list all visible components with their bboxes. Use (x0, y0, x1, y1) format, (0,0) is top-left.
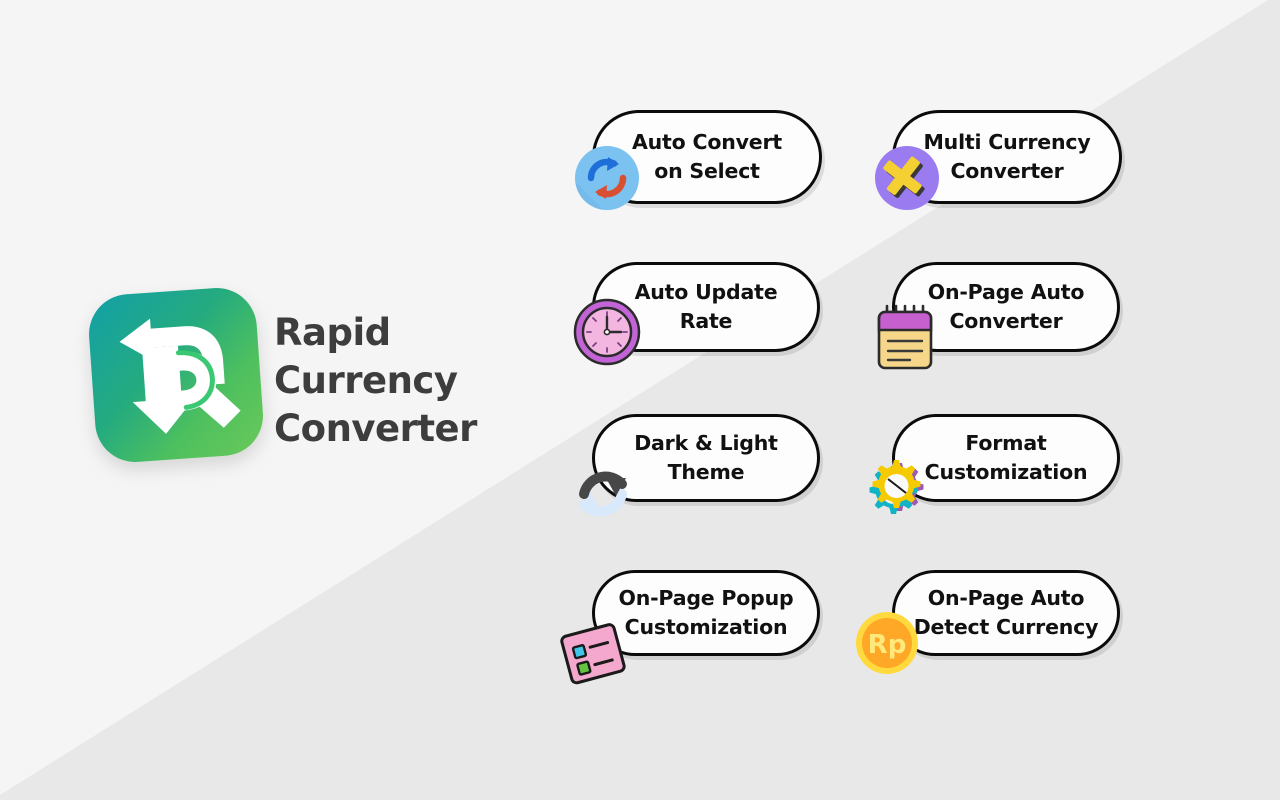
feature-label: On-Page Auto Detect Currency (896, 584, 1117, 642)
brand-title-line-1: Rapid (274, 309, 524, 357)
brand-title-line-2: Currency (274, 357, 524, 405)
rupiah-coin-icon: Rp (854, 610, 920, 676)
page-title: Rapid Currency Converter (274, 309, 524, 453)
feature-on-page-auto-detect-currency[interactable]: On-Page Auto Detect Currency Rp (892, 570, 1120, 656)
feature-on-page-popup-customization[interactable]: On-Page Popup Customization (592, 570, 820, 656)
feature-on-page-auto-converter[interactable]: On-Page Auto Converter (892, 262, 1120, 352)
gear-icon (860, 452, 934, 526)
theme-swap-arrows-icon (570, 454, 642, 526)
poster-canvas: Rapid Currency Converter Auto Convert on… (0, 0, 1280, 800)
refresh-arrows-circle-icon (574, 145, 640, 211)
feature-auto-convert-on-select[interactable]: Auto Convert on Select (592, 110, 822, 204)
feature-label: Auto Update Rate (617, 278, 796, 336)
popup-card-icon (552, 614, 632, 694)
feature-label: On-Page Auto Converter (910, 278, 1103, 336)
feature-label: Format Customization (907, 429, 1106, 487)
notepad-icon (874, 304, 936, 372)
brand-title-line-3: Converter (274, 405, 524, 453)
feature-pill[interactable]: On-Page Auto Detect Currency (892, 570, 1120, 656)
feature-format-customization[interactable]: Format Customization (892, 414, 1120, 502)
feature-auto-update-rate[interactable]: Auto Update Rate (592, 262, 820, 352)
currency-exchange-cross-icon (874, 145, 940, 211)
feature-label: On-Page Popup Customization (600, 584, 811, 642)
feature-label: Auto Convert on Select (614, 128, 800, 186)
feature-multi-currency-converter[interactable]: Multi Currency Converter (892, 110, 1122, 204)
svg-text:Rp: Rp (868, 630, 907, 660)
feature-dark-and-light-theme[interactable]: Dark & Light Theme (592, 414, 820, 502)
brand-block: Rapid Currency Converter (80, 285, 510, 480)
clock-icon (573, 298, 641, 366)
rapid-r-arrow-logo-icon (86, 285, 265, 464)
feature-label: Dark & Light Theme (616, 429, 796, 487)
